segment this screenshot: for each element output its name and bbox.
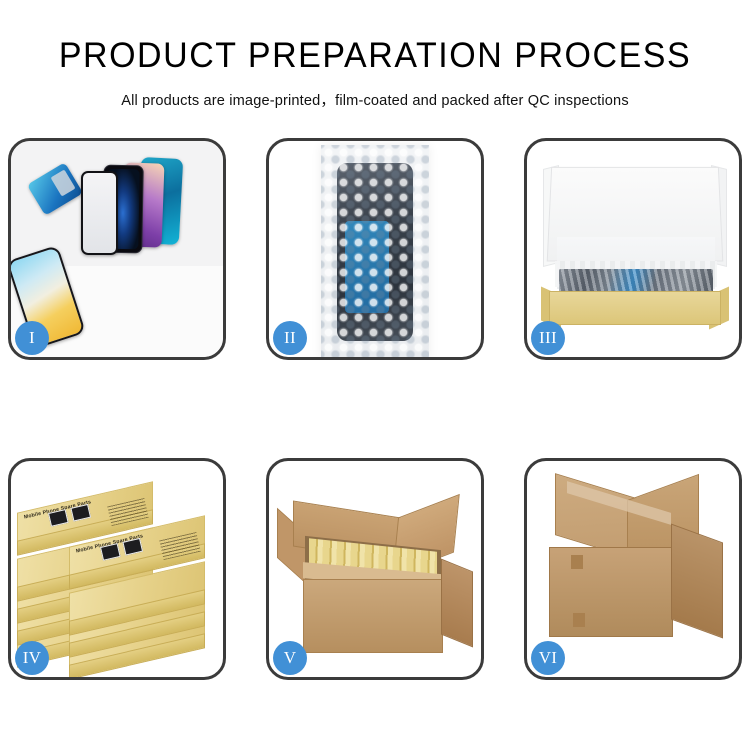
phone-screen-black-glass: [81, 171, 118, 255]
carton-seal-lower: [573, 613, 585, 627]
step-badge-2: II: [273, 321, 307, 355]
carton-side-panel: [441, 559, 473, 648]
step-badge-3: III: [531, 321, 565, 355]
product-preparation-page: PRODUCT PREPARATION PROCESS All products…: [0, 0, 750, 750]
process-grid: I II: [8, 138, 742, 680]
bubble-highlight-layer: [321, 145, 429, 357]
page-title: PRODUCT PREPARATION PROCESS: [11, 0, 739, 76]
carton-seal-upper: [571, 555, 583, 569]
bubble-wrap-bag: [321, 145, 429, 357]
panel-mailer-box[interactable]: III: [524, 138, 742, 360]
step-badge-5: V: [273, 641, 307, 675]
page-subtitle: All products are image-printed，film-coat…: [0, 76, 750, 110]
step-badge-4: IV: [15, 641, 49, 675]
panel-bubble-wrap[interactable]: II: [266, 138, 484, 360]
mailer-front-panel: [549, 291, 721, 325]
panel-box-stack[interactable]: Mobile Phone Spare Parts Mobile Phone Sp…: [8, 458, 226, 680]
carton-front-panel: [303, 579, 443, 653]
panel-products[interactable]: I: [8, 138, 226, 360]
sealed-carton-side: [671, 524, 723, 639]
panel-open-carton[interactable]: V: [266, 458, 484, 680]
sealed-carton-front: [549, 547, 673, 637]
step-badge-6: VI: [531, 641, 565, 675]
step-badge-1: I: [15, 321, 49, 355]
header: PRODUCT PREPARATION PROCESS All products…: [0, 0, 750, 110]
panel-sealed-carton[interactable]: VI: [524, 458, 742, 680]
